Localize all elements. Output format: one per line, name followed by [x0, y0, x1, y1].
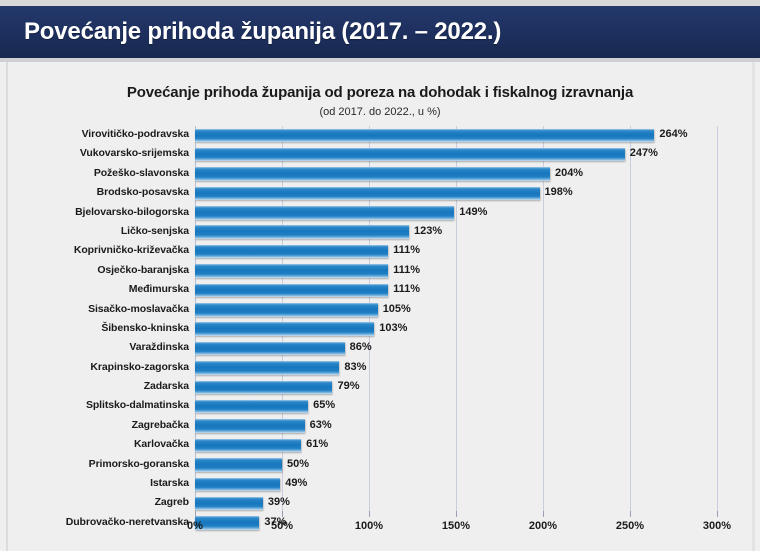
bar: [195, 284, 388, 298]
category-label: Vukovarsko-srijemska: [0, 147, 189, 159]
bar-row: Primorsko-goranska50%: [0, 456, 760, 475]
bar: [195, 322, 374, 336]
category-label: Šibensko-kninska: [0, 322, 189, 334]
category-label: Zagreb: [0, 496, 189, 508]
category-label: Sisačko-moslavačka: [0, 303, 189, 315]
bar-value-label: 39%: [268, 496, 290, 508]
category-label: Brodsko-posavska: [0, 186, 189, 198]
x-axis: 0%50%100%150%200%250%300%: [0, 511, 760, 541]
x-tick-mark: [282, 511, 283, 517]
bar: [195, 400, 308, 414]
bar-row: Požeško-slavonska204%: [0, 165, 760, 184]
bar: [195, 497, 263, 511]
bar: [195, 167, 550, 181]
bar-row: Splitsko-dalmatinska65%: [0, 397, 760, 416]
bar-value-label: 264%: [659, 128, 687, 140]
bar-value-label: 123%: [414, 225, 442, 237]
bar-value-label: 86%: [350, 341, 372, 353]
bar: [195, 129, 654, 143]
header-banner: Povećanje prihoda županija (2017. – 2022…: [0, 6, 760, 58]
bar: [195, 264, 388, 278]
category-label: Karlovačka: [0, 438, 189, 450]
chart-subtitle: (od 2017. do 2022., u %): [0, 106, 760, 118]
bar-row: Virovitičko-podravska264%: [0, 126, 760, 145]
category-label: Bjelovarsko-bilogorska: [0, 206, 189, 218]
x-tick-mark: [195, 511, 196, 517]
bar: [195, 381, 332, 395]
category-label: Zagrebačka: [0, 419, 189, 431]
category-label: Zadarska: [0, 380, 189, 392]
bar: [195, 439, 301, 453]
bar: [195, 225, 409, 239]
category-label: Požeško-slavonska: [0, 167, 189, 179]
x-tick-label: 50%: [252, 520, 312, 532]
category-label: Međimurska: [0, 283, 189, 295]
x-tick-mark: [630, 511, 631, 517]
bar: [195, 148, 625, 162]
bar-row: Bjelovarsko-bilogorska149%: [0, 204, 760, 223]
category-label: Virovitičko-podravska: [0, 128, 189, 140]
bar-value-label: 111%: [393, 264, 420, 276]
bar: [195, 478, 280, 492]
bar-row: Zagrebačka63%: [0, 417, 760, 436]
x-tick-label: 150%: [426, 520, 486, 532]
bar-row: Zadarska79%: [0, 378, 760, 397]
bar-row: Varaždinska86%: [0, 339, 760, 358]
bar-value-label: 65%: [313, 399, 335, 411]
x-tick-mark: [369, 511, 370, 517]
bar-row: Krapinsko-zagorska83%: [0, 359, 760, 378]
x-tick-label: 300%: [687, 520, 747, 532]
bar-row: Međimurska111%: [0, 281, 760, 300]
category-label: Splitsko-dalmatinska: [0, 399, 189, 411]
category-label: Varaždinska: [0, 341, 189, 353]
x-tick-mark: [543, 511, 544, 517]
category-label: Krapinsko-zagorska: [0, 361, 189, 373]
page-title: Povećanje prihoda županija (2017. – 2022…: [24, 18, 501, 46]
bar-row: Brodsko-posavska198%: [0, 184, 760, 203]
bar-row: Ličko-senjska123%: [0, 223, 760, 242]
bar-row: Vukovarsko-srijemska247%: [0, 145, 760, 164]
chart-title: Povećanje prihoda županija od poreza na …: [0, 84, 760, 101]
category-label: Koprivničko-križevačka: [0, 244, 189, 256]
bar-value-label: 247%: [630, 147, 658, 159]
category-label: Istarska: [0, 477, 189, 489]
bar: [195, 458, 282, 472]
bar-row: Sisačko-moslavačka105%: [0, 301, 760, 320]
bar-row: Istarska49%: [0, 475, 760, 494]
bar-value-label: 61%: [306, 438, 328, 450]
bar-value-label: 49%: [285, 477, 307, 489]
bar-row: Osječko-baranjska111%: [0, 262, 760, 281]
screenshot-root: Povećanje prihoda županija (2017. – 2022…: [0, 0, 760, 551]
bar-value-label: 111%: [393, 283, 420, 295]
bar: [195, 206, 454, 220]
bar-value-label: 103%: [379, 322, 407, 334]
x-tick-label: 250%: [600, 520, 660, 532]
x-tick-mark: [456, 511, 457, 517]
bar: [195, 245, 388, 259]
category-label: Osječko-baranjska: [0, 264, 189, 276]
bar-value-label: 149%: [459, 206, 487, 218]
x-tick-label: 100%: [339, 520, 399, 532]
category-label: Ličko-senjska: [0, 225, 189, 237]
x-tick-label: 200%: [513, 520, 573, 532]
x-tick-label: 0%: [165, 520, 225, 532]
bar-value-label: 83%: [344, 361, 366, 373]
bar-value-label: 111%: [393, 244, 420, 256]
category-label: Primorsko-goranska: [0, 458, 189, 470]
bar-value-label: 63%: [310, 419, 332, 431]
bar-row: Koprivničko-križevačka111%: [0, 242, 760, 261]
bar: [195, 303, 378, 317]
bar: [195, 361, 339, 375]
plot-area: Virovitičko-podravska264%Vukovarsko-srij…: [0, 126, 760, 511]
bar-value-label: 50%: [287, 458, 309, 470]
bar-value-label: 105%: [383, 303, 411, 315]
bar: [195, 342, 345, 356]
bar: [195, 187, 540, 201]
bar-row: Šibensko-kninska103%: [0, 320, 760, 339]
bar: [195, 419, 305, 433]
bar-value-label: 198%: [545, 186, 573, 198]
bar-value-label: 204%: [555, 167, 583, 179]
bar-value-label: 79%: [337, 380, 359, 392]
bar-rows: Virovitičko-podravska264%Vukovarsko-srij…: [0, 126, 760, 533]
x-tick-mark: [717, 511, 718, 517]
bar-row: Karlovačka61%: [0, 436, 760, 455]
